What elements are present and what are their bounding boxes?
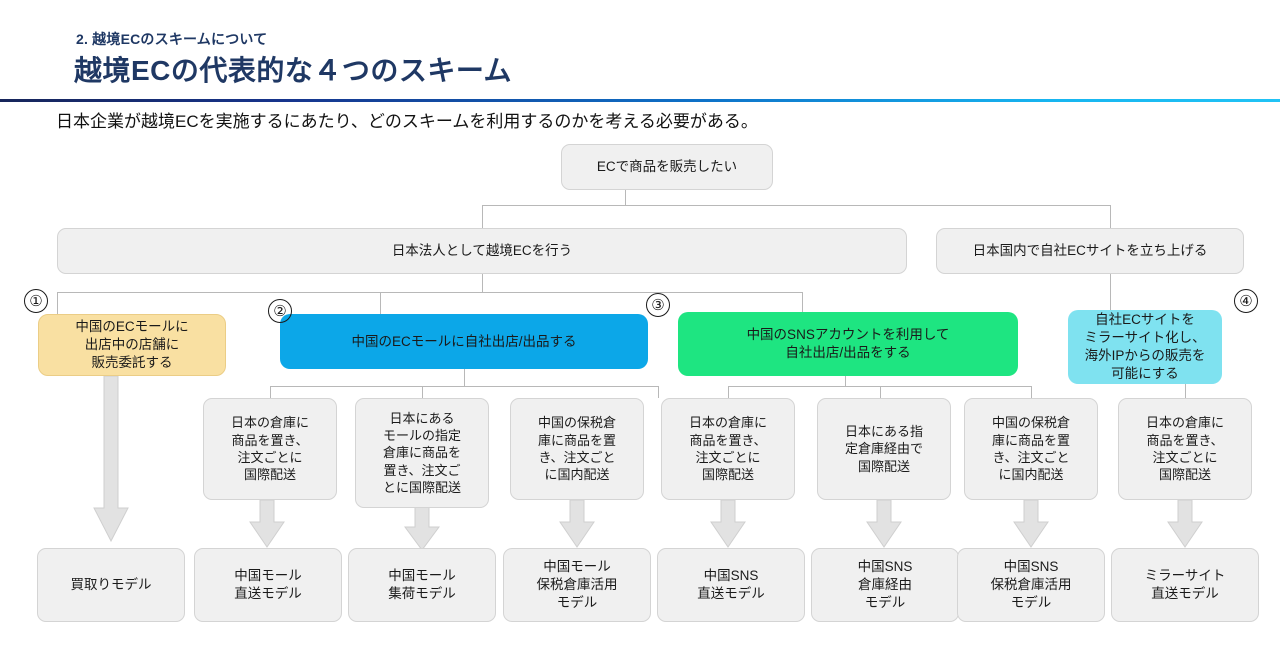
slide-root: 2. 越境ECのスキームについて 越境ECの代表的な４つのスキーム 日本企業が越…: [0, 0, 1280, 659]
node-detail-2[interactable]: 日本にある モールの指定 倉庫に商品を 置き、注文ご とに国際配送: [355, 398, 489, 508]
connector-d4-drop: [728, 386, 729, 398]
connector-to-level2-right: [1110, 205, 1111, 228]
connector-d1-drop: [270, 386, 271, 398]
node-detail-3[interactable]: 中国の保税倉 庫に商品を置 き、注文ごと に国内配送: [510, 398, 644, 500]
block-arrow-detail1-model2: [249, 500, 285, 548]
connector-to-level2-left: [482, 205, 483, 228]
connector-s4-down: [1185, 384, 1186, 398]
node-model-5[interactable]: 中国SNS 直送モデル: [657, 548, 805, 622]
block-arrow-detail6-model7: [1013, 500, 1049, 548]
node-scheme-3[interactable]: 中国のSNSアカウントを利用して 自社出店/出品をする: [678, 312, 1018, 376]
page-title: 越境ECの代表的な４つのスキーム: [74, 49, 512, 89]
scheme-number-2: ②: [268, 299, 292, 323]
node-model-2[interactable]: 中国モール 直送モデル: [194, 548, 342, 622]
node-model-7[interactable]: 中国SNS 保税倉庫活用 モデル: [957, 548, 1105, 622]
connector-scheme1-drop: [57, 292, 58, 314]
scheme-number-4: ④: [1234, 289, 1258, 313]
node-scheme-2[interactable]: 中国のECモールに自社出店/出品する: [280, 314, 648, 369]
connector-s3-down: [845, 376, 846, 386]
section-kicker: 2. 越境ECのスキームについて: [76, 29, 267, 49]
connector-d5-drop: [880, 386, 881, 398]
connector-scheme3-drop: [802, 292, 803, 314]
node-level2-own-site[interactable]: 日本国内で自社ECサイトを立ち上げる: [936, 228, 1244, 274]
block-arrow-detail3-model4: [559, 500, 595, 548]
block-arrow-detail7-model8: [1167, 500, 1203, 548]
node-model-3[interactable]: 中国モール 集荷モデル: [348, 548, 496, 622]
connector-root-bus: [482, 205, 1110, 206]
connector-d3-drop: [658, 386, 659, 398]
node-model-8[interactable]: ミラーサイト 直送モデル: [1111, 548, 1259, 622]
scheme-number-3: ③: [646, 293, 670, 317]
block-arrow-detail4-model5: [710, 500, 746, 548]
connector-l2a-down: [482, 274, 483, 292]
block-arrow-detail5-model6: [866, 500, 902, 548]
node-root[interactable]: ECで商品を販売したい: [561, 144, 773, 190]
lede-text: 日本企業が越境ECを実施するにあたり、どのスキームを利用するのかを考える必要があ…: [56, 107, 758, 132]
node-detail-7[interactable]: 日本の倉庫に 商品を置き、 注文ごとに 国際配送: [1118, 398, 1252, 500]
connector-d2-drop: [422, 386, 423, 398]
node-scheme-4[interactable]: 自社ECサイトを ミラーサイト化し、 海外IPからの販売を 可能にする: [1068, 310, 1222, 384]
connector-schemes-bus: [57, 292, 802, 293]
connector-s2-bus: [270, 386, 658, 387]
block-arrow-detail2-model3: [404, 507, 440, 551]
header-divider: [0, 99, 1280, 102]
connector-l2b-down: [1110, 274, 1111, 310]
node-scheme-1[interactable]: 中国のECモールに 出店中の店舗に 販売委託する: [38, 314, 226, 376]
node-model-4[interactable]: 中国モール 保税倉庫活用 モデル: [503, 548, 651, 622]
node-detail-1[interactable]: 日本の倉庫に 商品を置き、 注文ごとに 国際配送: [203, 398, 337, 500]
node-model-1[interactable]: 買取りモデル: [37, 548, 185, 622]
node-model-6[interactable]: 中国SNS 倉庫経由 モデル: [811, 548, 959, 622]
connector-scheme2-drop: [380, 292, 381, 314]
scheme-number-1: ①: [24, 289, 48, 313]
node-detail-4[interactable]: 日本の倉庫に 商品を置き、 注文ごとに 国際配送: [661, 398, 795, 500]
connector-d6-drop: [1031, 386, 1032, 398]
block-arrow-scheme1-model1: [93, 376, 129, 542]
node-detail-6[interactable]: 中国の保税倉 庫に商品を置 き、注文ごと に国内配送: [964, 398, 1098, 500]
node-level2-domestic-corp[interactable]: 日本法人として越境ECを行う: [57, 228, 907, 274]
node-detail-5[interactable]: 日本にある指 定倉庫経由で 国際配送: [817, 398, 951, 500]
connector-s2-down: [464, 369, 465, 386]
connector-root-down: [625, 190, 626, 205]
